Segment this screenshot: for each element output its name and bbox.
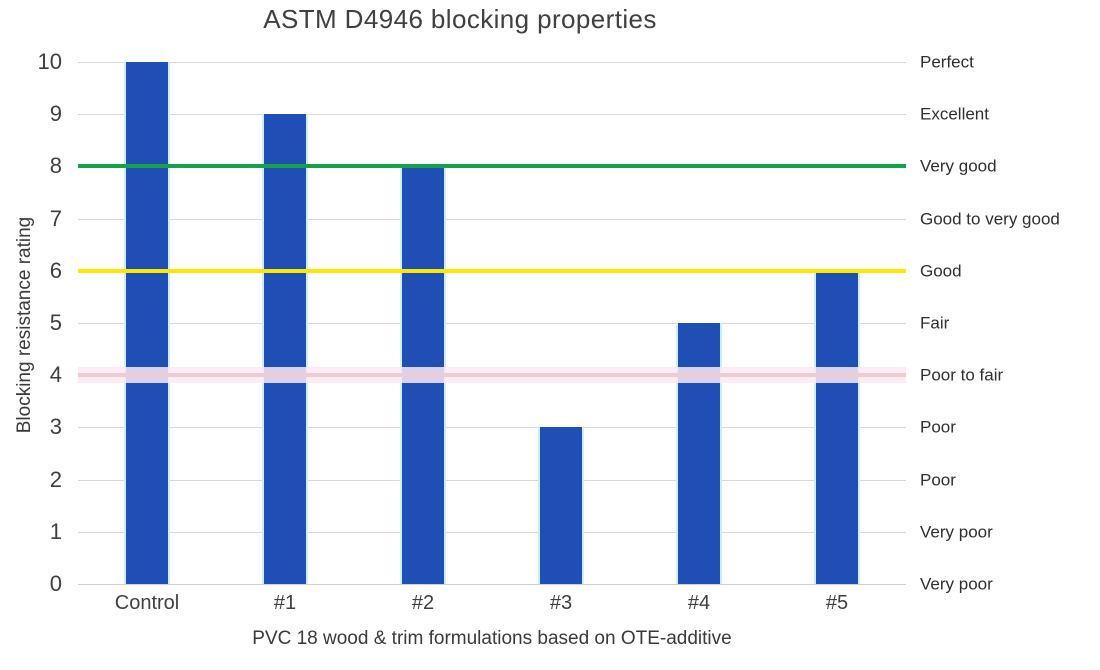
gridline-3 [78,427,906,428]
gridline-5 [78,323,906,324]
rating-label-5: Fair [920,315,949,332]
rating-label-4: Poor to fair [920,367,1003,384]
y-tick-label-3: 3 [16,416,62,438]
y-axis-tick-labels: 012345678910 [0,62,62,584]
x-tick-label-Control: Control [78,592,216,615]
reference-line-4 [78,373,906,377]
rating-scale-labels: PerfectExcellentVery goodGood to very go… [920,62,1100,584]
y-tick-label-6: 6 [16,260,62,282]
x-tick-label-num3: #3 [492,592,630,615]
plot-area [78,62,906,584]
reference-line-8 [78,164,906,168]
x-axis-title: PVC 18 wood & trim formulations based on… [78,628,906,650]
reference-line-6 [78,269,906,273]
y-tick-label-2: 2 [16,469,62,491]
rating-label-3: Poor [920,419,956,436]
bar-num1[interactable] [262,114,308,584]
chart-title: ASTM D4946 blocking properties [0,4,920,35]
rating-label-7: Good to very good [920,210,1060,227]
bar-num3[interactable] [538,427,584,584]
gridline-0 [78,584,906,585]
x-axis-tick-labels: Control#1#2#3#4#5 [78,592,906,622]
x-tick-label-num5: #5 [768,592,906,615]
rating-label-2: Poor [920,471,956,488]
chart-container: ASTM D4946 blocking properties Blocking … [0,0,1100,670]
x-tick-label-num2: #2 [354,592,492,615]
y-tick-label-4: 4 [16,364,62,386]
rating-label-6: Good [920,262,962,279]
gridline-1 [78,532,906,533]
gridline-9 [78,114,906,115]
y-tick-label-0: 0 [16,573,62,595]
y-tick-label-1: 1 [16,521,62,543]
gridline-7 [78,219,906,220]
rating-label-1: Very poor [920,523,993,540]
x-tick-label-num1: #1 [216,592,354,615]
rating-label-8: Very good [920,158,997,175]
y-tick-label-9: 9 [16,103,62,125]
bar-num4[interactable] [676,323,722,584]
y-tick-label-7: 7 [16,208,62,230]
x-tick-label-num4: #4 [630,592,768,615]
y-tick-label-5: 5 [16,312,62,334]
rating-label-10: Perfect [920,54,974,71]
bar-num5[interactable] [814,271,860,584]
gridline-10 [78,62,906,63]
rating-label-0: Very poor [920,576,993,593]
bar-Control[interactable] [124,62,170,584]
y-tick-label-10: 10 [16,51,62,73]
rating-label-9: Excellent [920,106,989,123]
gridline-2 [78,480,906,481]
y-tick-label-8: 8 [16,155,62,177]
